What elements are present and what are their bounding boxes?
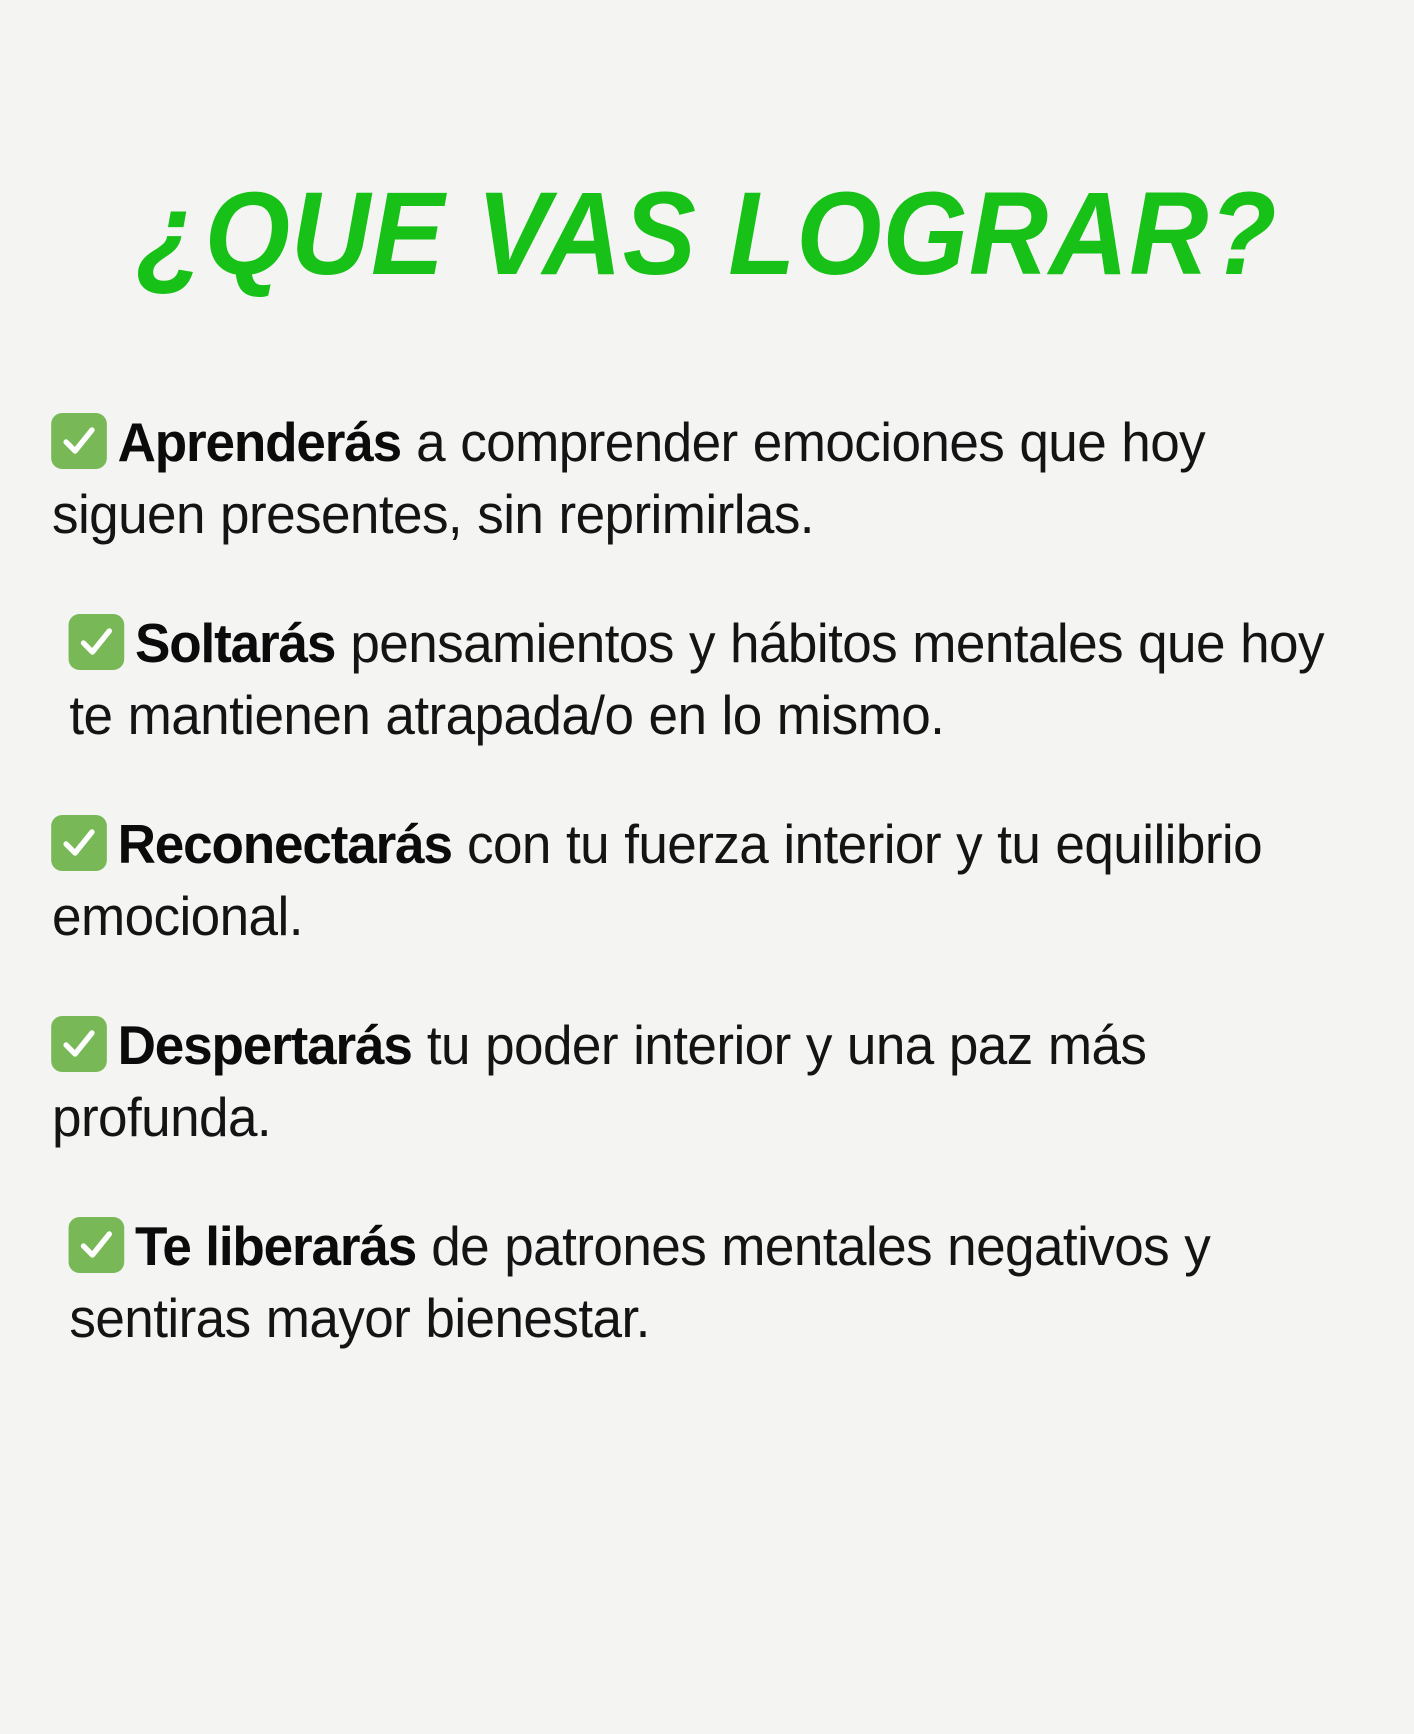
white-check-mark-icon bbox=[51, 815, 107, 871]
list-item-lead: Te liberarás bbox=[135, 1215, 416, 1277]
white-check-mark-icon bbox=[69, 1217, 125, 1273]
list-item: Despertarás tu poder interior y una paz … bbox=[52, 1010, 1326, 1153]
list-item: Aprenderás a comprender emociones que ho… bbox=[52, 407, 1326, 550]
white-check-mark-icon bbox=[69, 614, 125, 670]
page-title: ¿QUE VAS LOGRAR? bbox=[49, 175, 1364, 293]
white-check-mark-icon bbox=[51, 1016, 107, 1072]
white-check-mark-icon bbox=[51, 413, 107, 469]
list-item-lead: Aprenderás bbox=[118, 411, 401, 473]
list-item-lead: Soltarás bbox=[135, 612, 335, 674]
list-item-lead: Reconectarás bbox=[118, 813, 452, 875]
list-item: Soltarás pensamientos y hábitos mentales… bbox=[52, 608, 1326, 751]
list-item-lead: Despertarás bbox=[118, 1014, 412, 1076]
benefits-list: Aprenderás a comprender emociones que ho… bbox=[52, 352, 1372, 1354]
list-item: Te liberarás de patrones mentales negati… bbox=[52, 1211, 1326, 1354]
list-item: Reconectarás con tu fuerza interior y tu… bbox=[52, 809, 1326, 952]
poster-canvas: ¿QUE VAS LOGRAR? Aprenderás a comprender… bbox=[0, 0, 1414, 1734]
